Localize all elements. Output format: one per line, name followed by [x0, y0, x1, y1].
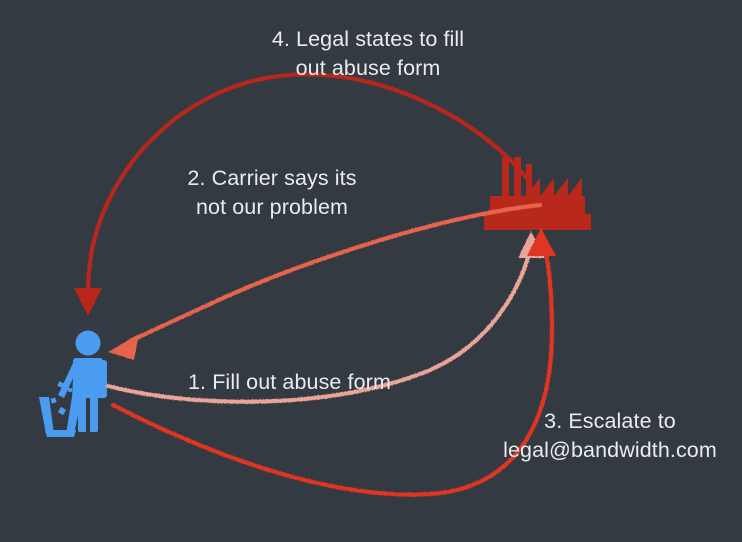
- label-step2-line2: not our problem: [196, 195, 348, 219]
- label-step2: 2. Carrier says itsnot our problem: [163, 164, 381, 222]
- label-step1: 1. Fill out abuse form: [188, 368, 412, 397]
- label-step3-line2: legal@bandwidth.com: [503, 438, 717, 462]
- factory-icon: [484, 157, 591, 230]
- arrow-step2-head: [108, 334, 139, 360]
- label-step2-line1: 2. Carrier says its: [187, 166, 356, 190]
- arrow-step2[interactable]: [108, 205, 540, 360]
- diagram-canvas: 4. Legal states to fillout abuse form 2.…: [0, 0, 742, 542]
- node-customer[interactable]: [39, 331, 107, 438]
- label-step1-line1: 1. Fill out abuse form: [188, 370, 391, 394]
- label-step3-line1: 3. Escalate to: [544, 409, 676, 433]
- arrow-step4-head: [74, 288, 102, 316]
- person-throwing-litter-icon: [39, 331, 107, 438]
- label-step4-line2: out abuse form: [296, 56, 441, 80]
- node-carrier[interactable]: [484, 157, 591, 230]
- label-step3: 3. Escalate tolegal@bandwidth.com: [490, 407, 730, 465]
- label-step4: 4. Legal states to fillout abuse form: [243, 25, 493, 83]
- arrow-step2-path: [130, 205, 540, 341]
- label-step4-line1: 4. Legal states to fill: [272, 27, 464, 51]
